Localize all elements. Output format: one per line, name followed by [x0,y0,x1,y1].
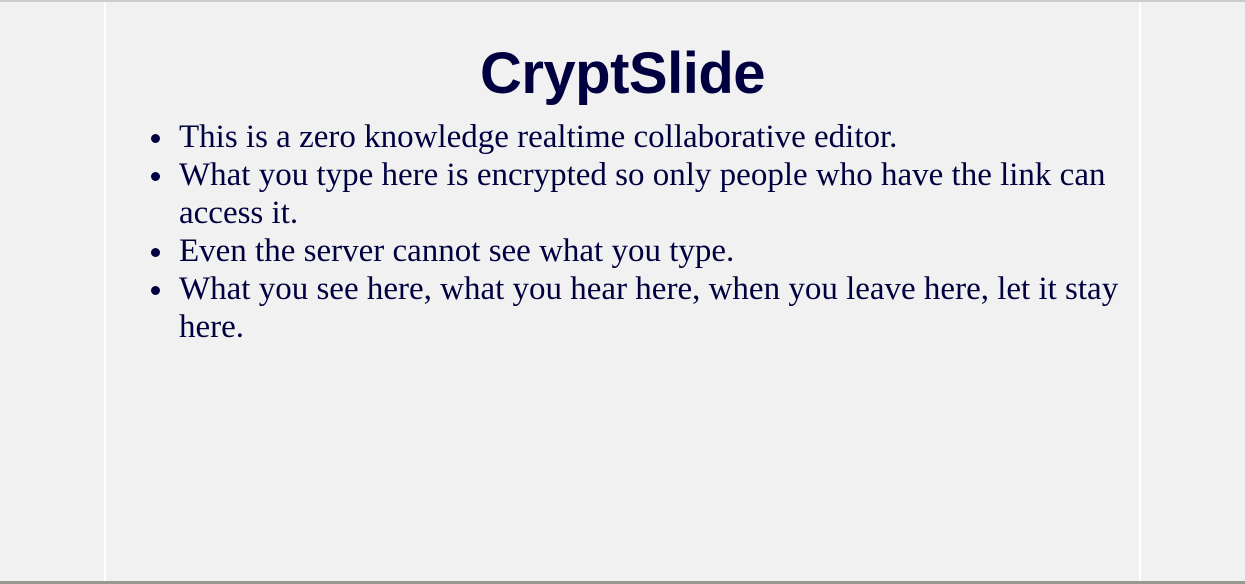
list-item-label: What you type here is encrypted so only … [179,156,1139,232]
slide-canvas[interactable]: CryptSlide This is a zero knowledge real… [104,2,1141,581]
bullet-dot-icon [151,134,160,143]
list-item-label: Even the server cannot see what you type… [179,232,1139,270]
slide-left-gutter [0,2,104,581]
list-item[interactable]: What you see here, what you hear here, w… [106,270,1139,346]
bullet-dot-icon [151,248,160,257]
bullet-dot-icon [151,286,160,295]
slide-right-gutter [1141,2,1245,581]
list-item[interactable]: Even the server cannot see what you type… [106,232,1139,270]
page-title: CryptSlide [106,44,1139,105]
bullet-dot-icon [151,172,160,181]
list-item-label: What you see here, what you hear here, w… [179,270,1139,346]
slide-viewer-frame: CryptSlide This is a zero knowledge real… [0,0,1245,584]
list-item[interactable]: This is a zero knowledge realtime collab… [106,118,1139,156]
list-item-label: This is a zero knowledge realtime collab… [179,118,1139,156]
slide-bullet-list: This is a zero knowledge realtime collab… [106,118,1139,346]
list-item[interactable]: What you type here is encrypted so only … [106,156,1139,232]
